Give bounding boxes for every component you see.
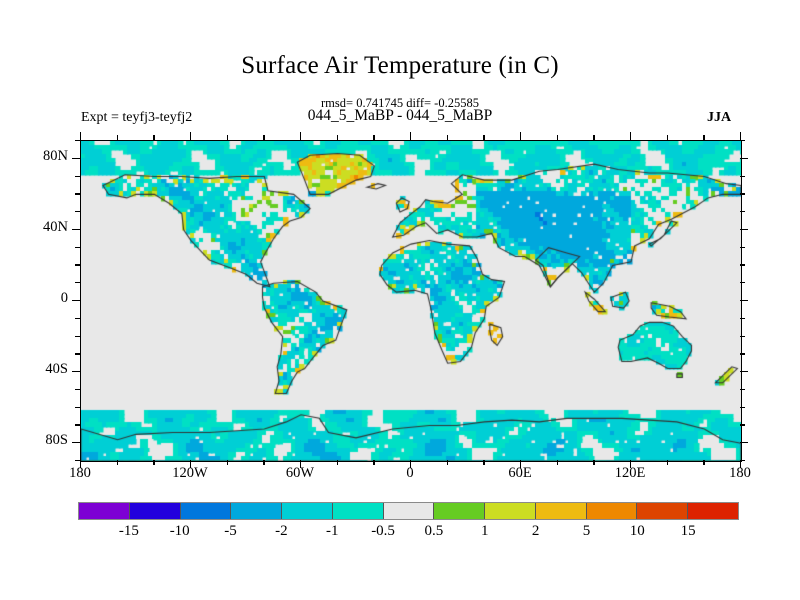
colorbar-cell	[688, 503, 738, 519]
y-axis-tick	[72, 229, 80, 230]
x-axis-tick-top	[337, 135, 338, 140]
y-axis-tick-right	[740, 211, 745, 212]
colorbar-tick-label: 5	[583, 523, 591, 540]
x-axis-tick	[153, 460, 154, 465]
y-axis-tick	[75, 407, 80, 408]
colorbar-tick-label: 1	[481, 523, 489, 540]
x-axis-tick-top	[557, 135, 558, 140]
x-axis-label: 180	[729, 466, 751, 481]
x-axis-tick-top	[447, 135, 448, 140]
colorbar-cell	[231, 503, 282, 519]
y-axis-tick-right	[740, 158, 748, 159]
colorbar-tick-label: -10	[170, 523, 190, 540]
y-axis-tick	[72, 158, 80, 159]
y-axis-label: 0	[61, 291, 68, 306]
y-axis-tick-right	[740, 300, 748, 301]
y-axis-tick	[75, 318, 80, 319]
colorbar-tick-label: -2	[275, 523, 288, 540]
x-axis-tick-top	[227, 135, 228, 140]
y-axis-tick	[75, 247, 80, 248]
x-axis-tick	[593, 460, 594, 465]
colorbar-tick-label: 2	[532, 523, 540, 540]
y-axis-tick	[75, 211, 80, 212]
x-axis-tick-top	[263, 135, 264, 140]
colorbar-cell	[536, 503, 587, 519]
colorbar-tick-label: -15	[119, 523, 139, 540]
y-axis-tick	[75, 336, 80, 337]
x-axis-tick	[483, 460, 484, 465]
page-title: Surface Air Temperature (in C)	[0, 52, 800, 80]
y-axis-tick	[72, 371, 80, 372]
colorbar-cell	[130, 503, 181, 519]
map-plot-area	[80, 140, 742, 462]
y-axis-tick-right	[740, 264, 745, 265]
x-axis-tick-top	[153, 135, 154, 140]
x-axis-tick	[557, 460, 558, 465]
y-axis-label: 80N	[43, 149, 68, 164]
x-axis-label: 180	[69, 466, 91, 481]
y-axis-tick-right	[740, 193, 745, 194]
x-axis-label: 120W	[172, 466, 207, 481]
y-axis-tick	[75, 424, 80, 425]
x-axis-label: 0	[406, 466, 413, 481]
season-label: JJA	[707, 110, 731, 126]
y-axis-tick	[75, 264, 80, 265]
y-axis-tick-right	[740, 140, 745, 141]
x-axis-tick	[667, 460, 668, 465]
colorbar-cell	[637, 503, 688, 519]
x-axis-tick-top	[520, 132, 521, 140]
y-axis-tick	[75, 140, 80, 141]
x-axis-tick-top	[373, 135, 374, 140]
x-axis-tick	[447, 460, 448, 465]
y-axis-tick-right	[740, 247, 745, 248]
x-axis-tick	[117, 460, 118, 465]
y-axis-tick	[72, 300, 80, 301]
x-axis-tick	[337, 460, 338, 465]
y-axis-tick-right	[740, 229, 748, 230]
x-axis-tick-top	[667, 135, 668, 140]
x-axis-tick-top	[300, 132, 301, 140]
y-axis-tick	[75, 282, 80, 283]
y-axis-tick-right	[740, 353, 745, 354]
y-axis-tick	[75, 176, 80, 177]
colorbar-cell	[282, 503, 333, 519]
x-axis-tick-top	[410, 132, 411, 140]
y-axis-tick-right	[740, 424, 745, 425]
x-axis-tick	[263, 460, 264, 465]
x-axis-label: 60E	[508, 466, 531, 481]
y-axis-label: 40N	[43, 220, 68, 235]
y-axis-tick	[75, 193, 80, 194]
colorbar	[78, 502, 739, 520]
colorbar-tick-label: 10	[630, 523, 645, 540]
x-axis-tick	[703, 460, 704, 465]
colorbar-tick-label: -1	[326, 523, 339, 540]
colorbar-tick-label: -0.5	[371, 523, 395, 540]
colorbar-cell	[587, 503, 638, 519]
x-axis-tick-top	[630, 132, 631, 140]
y-axis-label: 40S	[45, 362, 68, 377]
y-axis-tick-right	[740, 407, 745, 408]
y-axis-label: 80S	[45, 433, 68, 448]
y-axis-tick	[75, 389, 80, 390]
colorbar-cell	[485, 503, 536, 519]
y-axis-tick-right	[740, 282, 745, 283]
x-axis-tick-top	[190, 132, 191, 140]
y-axis-tick-right	[740, 318, 745, 319]
colorbar-cell	[384, 503, 435, 519]
x-axis-tick-top	[80, 132, 81, 140]
colorbar-tick-label: 0.5	[425, 523, 444, 540]
y-axis-tick	[75, 353, 80, 354]
colorbar-tick-label: -5	[224, 523, 237, 540]
y-axis-tick-right	[740, 442, 748, 443]
colorbar-cell	[79, 503, 130, 519]
x-axis-label: 60W	[286, 466, 314, 481]
x-axis-tick-top	[593, 135, 594, 140]
x-axis-tick-top	[703, 135, 704, 140]
x-axis-label: 120E	[615, 466, 646, 481]
colorbar-cell	[181, 503, 232, 519]
colorbar-tick-label: 15	[681, 523, 696, 540]
colorbar-cell	[434, 503, 485, 519]
x-axis-tick-top	[117, 135, 118, 140]
y-axis-tick-right	[740, 389, 745, 390]
y-axis-tick-right	[740, 176, 745, 177]
x-axis-tick-top	[740, 132, 741, 140]
colorbar-cell	[333, 503, 384, 519]
x-axis-tick	[227, 460, 228, 465]
x-axis-tick	[373, 460, 374, 465]
experiment-label: Expt = teyfj3-teyfj2	[81, 110, 192, 126]
y-axis-tick-right	[740, 336, 745, 337]
y-axis-tick	[72, 442, 80, 443]
temperature-anomaly-map	[81, 141, 741, 461]
x-axis-tick-top	[483, 135, 484, 140]
y-axis-tick-right	[740, 371, 748, 372]
